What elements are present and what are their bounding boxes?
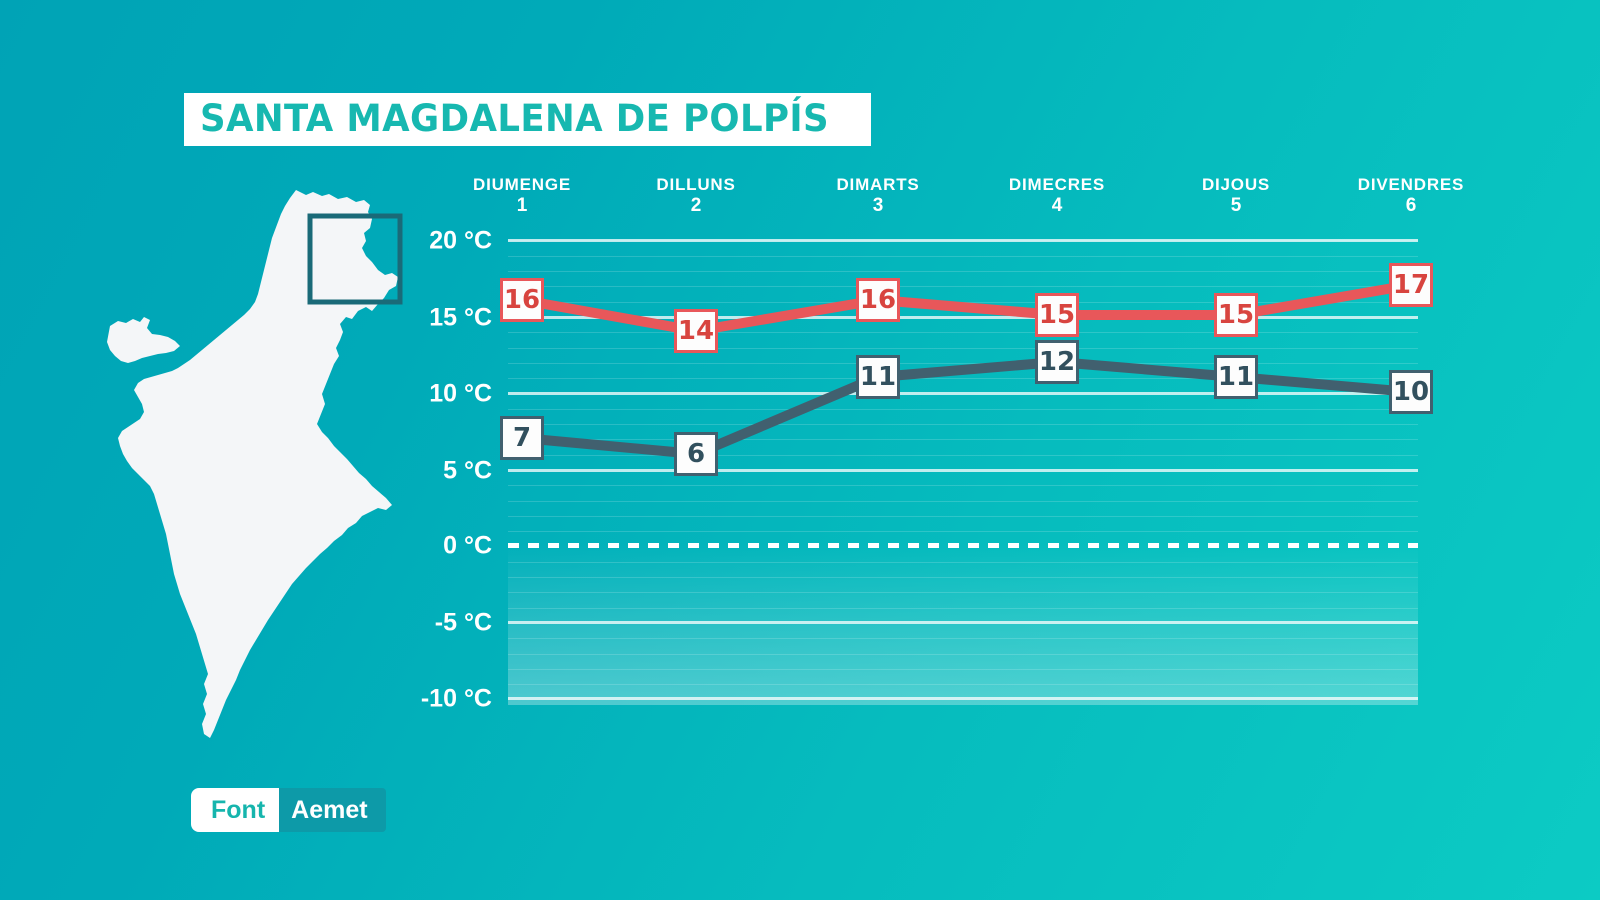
min-value-4: 11	[1218, 362, 1254, 392]
min-value-1: 6	[687, 439, 705, 469]
source-name: Aemet	[279, 788, 385, 832]
min-value-box-5: 10	[1389, 370, 1433, 414]
infographic-canvas: SANTA MAGDALENA DE POLPÍS DIUMENGE 1 DIL…	[0, 0, 1600, 900]
day-number-2: 3	[836, 196, 919, 216]
day-header-row: DIUMENGE 1 DILLUNS 2 DIMARTS 3 DIMECRES …	[508, 176, 1438, 222]
source-attribution: Font Aemet	[191, 788, 386, 832]
map-shape-valencian-community	[107, 190, 398, 738]
day-header-0: DIUMENGE 1	[473, 176, 571, 216]
min-value-0: 7	[513, 423, 531, 453]
series-layer	[508, 225, 1468, 705]
max-value-box-4: 15	[1214, 293, 1258, 337]
day-header-4: DIJOUS 5	[1202, 176, 1270, 216]
ytick-15: 15 °C	[429, 304, 492, 333]
max-value-2: 16	[860, 285, 896, 315]
ytick-5: 5 °C	[443, 457, 492, 486]
region-map	[100, 178, 430, 748]
day-number-0: 1	[473, 196, 571, 216]
min-value-box-3: 12	[1035, 340, 1079, 384]
max-value-box-3: 15	[1035, 293, 1079, 337]
max-value-box-1: 14	[674, 309, 718, 353]
day-number-3: 4	[1009, 196, 1105, 216]
max-value-3: 15	[1039, 300, 1075, 330]
day-name-0: DIUMENGE	[473, 176, 571, 194]
source-label: Font	[191, 788, 279, 832]
day-header-5: DIVENDRES 6	[1358, 176, 1464, 216]
min-value-box-4: 11	[1214, 355, 1258, 399]
max-temp-line	[522, 285, 1411, 331]
page-title: SANTA MAGDALENA DE POLPÍS	[184, 93, 871, 146]
min-value-3: 12	[1039, 347, 1075, 377]
ytick-0: 0 °C	[443, 532, 492, 561]
max-value-5: 17	[1393, 270, 1429, 300]
day-number-4: 5	[1202, 196, 1270, 216]
max-value-0: 16	[504, 285, 540, 315]
min-value-box-1: 6	[674, 432, 718, 476]
min-value-2: 11	[860, 362, 896, 392]
ytick-minus5: -5 °C	[435, 609, 492, 638]
max-value-4: 15	[1218, 300, 1254, 330]
day-name-2: DIMARTS	[836, 176, 919, 194]
max-value-box-5: 17	[1389, 263, 1433, 307]
min-temp-line	[522, 362, 1411, 454]
day-number-1: 2	[656, 196, 735, 216]
day-name-4: DIJOUS	[1202, 176, 1270, 194]
min-value-5: 10	[1393, 377, 1429, 407]
day-header-3: DIMECRES 4	[1009, 176, 1105, 216]
day-name-3: DIMECRES	[1009, 176, 1105, 194]
ytick-10: 10 °C	[429, 380, 492, 409]
max-value-1: 14	[678, 316, 714, 346]
day-name-5: DIVENDRES	[1358, 176, 1464, 194]
ytick-minus10: -10 °C	[421, 685, 492, 714]
day-header-2: DIMARTS 3	[836, 176, 919, 216]
max-value-box-2: 16	[856, 278, 900, 322]
day-name-1: DILLUNS	[656, 176, 735, 194]
day-header-1: DILLUNS 2	[656, 176, 735, 216]
ytick-20: 20 °C	[429, 227, 492, 256]
page-title-text: SANTA MAGDALENA DE POLPÍS	[200, 100, 829, 137]
day-number-5: 6	[1358, 196, 1464, 216]
min-value-box-2: 11	[856, 355, 900, 399]
max-value-box-0: 16	[500, 278, 544, 322]
min-value-box-0: 7	[500, 416, 544, 460]
